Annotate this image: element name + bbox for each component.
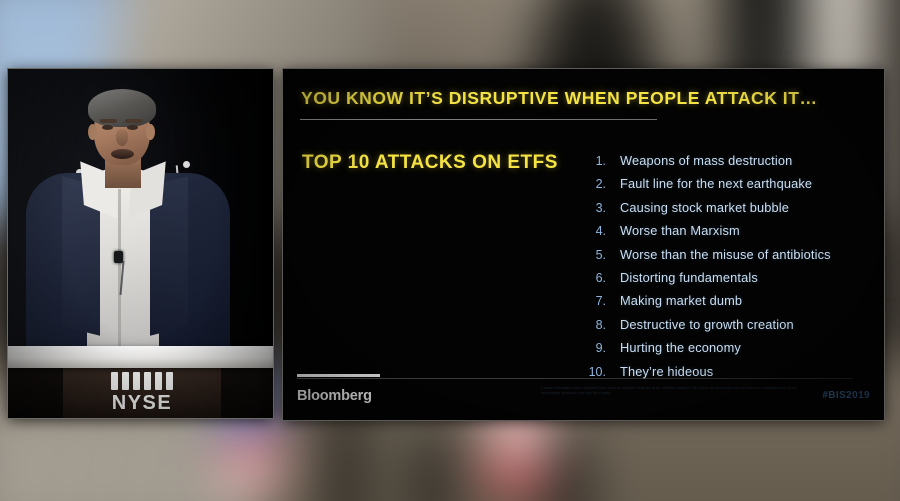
- slide-footer: Bloomberg Certain information was obtain…: [283, 374, 884, 420]
- nyse-wordmark: NYSE: [86, 393, 198, 413]
- speaker-shirt-placket: [118, 189, 121, 349]
- speaker-brow-right: [125, 119, 142, 123]
- list-item: 1.Weapons of mass destruction: [579, 153, 870, 168]
- list-item: 7.Making market dumb: [579, 293, 870, 308]
- list-item: 6.Distorting fundamentals: [579, 270, 870, 285]
- footer-divider: [297, 378, 853, 379]
- attack-list: 1.Weapons of mass destruction2.Fault lin…: [579, 153, 870, 387]
- speaker-ear-right: [146, 124, 155, 140]
- bloomberg-wordmark: Bloomberg: [297, 388, 372, 404]
- speaker-eye-right: [127, 125, 138, 130]
- list-item-label: Making market dumb: [620, 293, 742, 308]
- nyse-bars-icon: [86, 372, 198, 390]
- speaker-eye-left: [102, 125, 113, 130]
- speaker-mouth: [111, 149, 134, 159]
- list-item-label: Weapons of mass destruction: [620, 153, 792, 168]
- slide-title: YOU KNOW IT’S DISRUPTIVE WHEN PEOPLE ATT…: [301, 88, 866, 109]
- speaker-nose: [116, 129, 128, 146]
- event-hashtag: #BIS2019: [822, 390, 870, 401]
- speaker-video-panel[interactable]: NYSE: [8, 69, 273, 418]
- list-item-number: 1.: [579, 154, 606, 168]
- podium-surface: [8, 346, 273, 368]
- list-item: 3.Causing stock market bubble: [579, 200, 870, 215]
- list-item-label: Hurting the economy: [620, 340, 741, 355]
- list-item-number: 9.: [579, 341, 606, 355]
- podium-side-right: [219, 368, 273, 418]
- speaker-hair: [88, 89, 156, 127]
- list-item-label: Fault line for the next earthquake: [620, 176, 812, 191]
- microphone-head-right: [183, 161, 190, 168]
- podium-side-left: [8, 368, 64, 418]
- pillar-right: [412, 431, 448, 501]
- speaker-brow-left: [100, 119, 117, 123]
- list-item-number: 5.: [579, 248, 606, 262]
- list-item: 9.Hurting the economy: [579, 340, 870, 355]
- title-divider: [300, 119, 657, 120]
- list-item: 5.Worse than the misuse of antibiotics: [579, 247, 870, 262]
- slide-content: YOU KNOW IT’S DISRUPTIVE WHEN PEOPLE ATT…: [283, 69, 884, 420]
- nyse-logo: NYSE: [86, 372, 198, 413]
- list-item: 2.Fault line for the next earthquake: [579, 176, 870, 191]
- list-item: 4.Worse than Marxism: [579, 223, 870, 238]
- speaker-ear-left: [88, 124, 97, 140]
- list-item-label: Distorting fundamentals: [620, 270, 758, 285]
- list-item-number: 7.: [579, 294, 606, 308]
- list-item-label: Worse than the misuse of antibiotics: [620, 247, 831, 262]
- list-item: 8.Destructive to growth creation: [579, 317, 870, 332]
- list-item-number: 6.: [579, 271, 606, 285]
- list-item-number: 2.: [579, 177, 606, 191]
- list-item-number: 8.: [579, 318, 606, 332]
- presentation-slide-panel[interactable]: YOU KNOW IT’S DISRUPTIVE WHEN PEOPLE ATT…: [283, 69, 884, 420]
- broadcast-stage: NYSE YOU KNOW IT’S DISRUPTIVE WHEN PEOPL…: [0, 0, 900, 501]
- legal-disclaimer: Certain information was obtained from so…: [541, 386, 803, 397]
- slide-subheading: TOP 10 ATTACKS ON ETFS: [302, 152, 558, 174]
- list-item-label: Causing stock market bubble: [620, 200, 789, 215]
- list-item-number: 4.: [579, 224, 606, 238]
- list-item-label: Destructive to growth creation: [620, 317, 794, 332]
- pillar-far-right: [550, 441, 586, 501]
- bloomberg-accent-bar: [297, 374, 380, 377]
- list-item-number: 3.: [579, 201, 606, 215]
- list-item-label: Worse than Marxism: [620, 223, 740, 238]
